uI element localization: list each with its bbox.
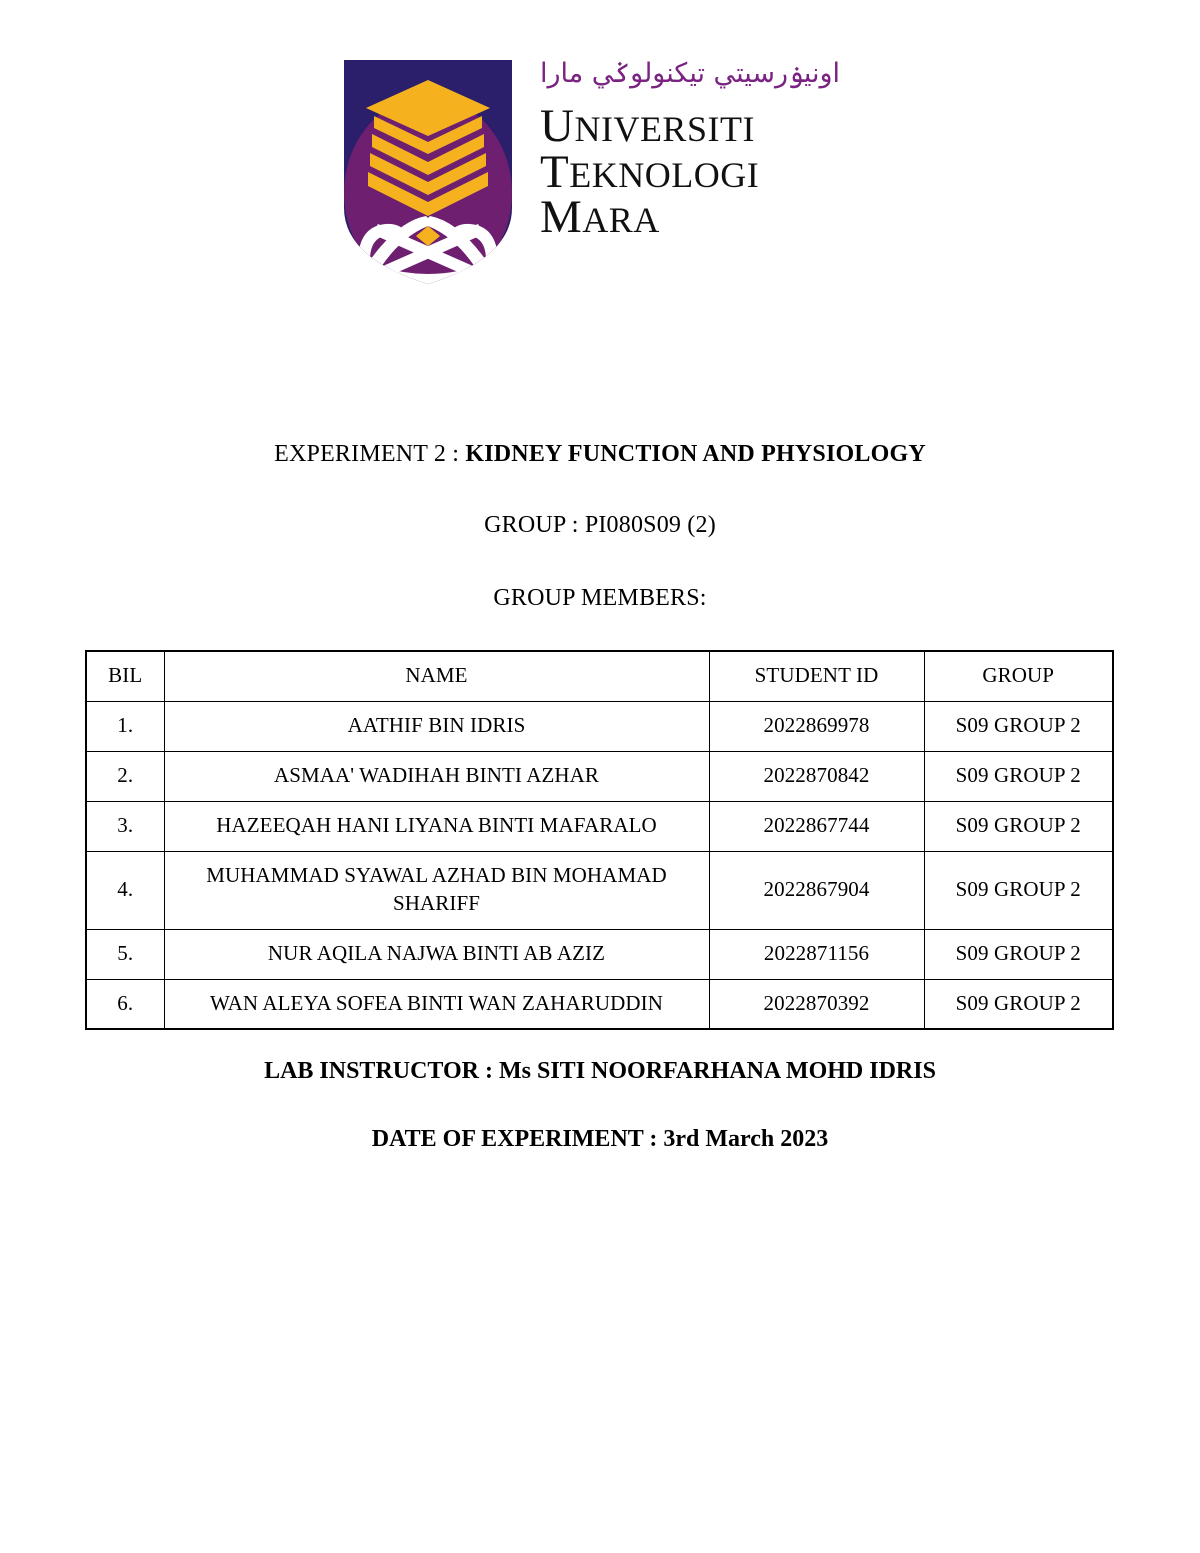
table-row: 2. ASMAA' WADIHAH BINTI AZHAR 2022870842… — [86, 751, 1113, 801]
cell-group: S09 GROUP 2 — [924, 751, 1113, 801]
table-row: 6. WAN ALEYA SOFEA BINTI WAN ZAHARUDDIN … — [86, 979, 1113, 1029]
cell-group: S09 GROUP 2 — [924, 851, 1113, 929]
date-of-experiment-line: DATE OF EXPERIMENT : 3rd March 2023 — [0, 1126, 1200, 1153]
cell-bil: 2. — [86, 751, 164, 801]
cell-bil: 1. — [86, 701, 164, 751]
cell-name: AATHIF BIN IDRIS — [164, 701, 709, 751]
cell-name: HAZEEQAH HANI LIYANA BINTI MAFARALO — [164, 801, 709, 851]
cell-student-id: 2022869978 — [709, 701, 924, 751]
cell-bil: 5. — [86, 929, 164, 979]
uitm-crest-icon — [340, 58, 516, 286]
cell-bil: 6. — [86, 979, 164, 1029]
table-row: 5. NUR AQILA NAJWA BINTI AB AZIZ 2022871… — [86, 929, 1113, 979]
uitm-wordmark: اونيۏرسيتي تيكنولوݢي مارا UNIVERSITI TEK… — [540, 58, 840, 241]
experiment-title-main: KIDNEY FUNCTION AND PHYSIOLOGY — [465, 441, 926, 467]
table-row: 3. HAZEEQAH HANI LIYANA BINTI MAFARALO 2… — [86, 801, 1113, 851]
table-row: 4. MUHAMMAD SYAWAL AZHAD BIN MOHAMAD SHA… — [86, 851, 1113, 929]
cell-student-id: 2022867904 — [709, 851, 924, 929]
group-members-label: GROUP MEMBERS: — [0, 585, 1200, 612]
experiment-title-prefix: EXPERIMENT 2 : — [274, 441, 465, 467]
column-header-name: NAME — [164, 651, 709, 701]
cell-name: ASMAA' WADIHAH BINTI AZHAR — [164, 751, 709, 801]
cell-group: S09 GROUP 2 — [924, 979, 1113, 1029]
cell-name: WAN ALEYA SOFEA BINTI WAN ZAHARUDDIN — [164, 979, 709, 1029]
cell-student-id: 2022870842 — [709, 751, 924, 801]
university-name: UNIVERSITI TEKNOLOGI MARA — [540, 104, 840, 241]
university-name-line-3: MARA — [540, 195, 840, 241]
university-name-line-2: TEKNOLOGI — [540, 150, 840, 196]
uitm-logo: اونيۏرسيتي تيكنولوݢي مارا UNIVERSITI TEK… — [340, 58, 900, 293]
cell-bil: 4. — [86, 851, 164, 929]
table-row: 1. AATHIF BIN IDRIS 2022869978 S09 GROUP… — [86, 701, 1113, 751]
cell-bil: 3. — [86, 801, 164, 851]
cell-group: S09 GROUP 2 — [924, 929, 1113, 979]
experiment-title: EXPERIMENT 2 : KIDNEY FUNCTION AND PHYSI… — [0, 441, 1200, 468]
university-name-line-1: UNIVERSITI — [540, 104, 840, 150]
cell-name: NUR AQILA NAJWA BINTI AB AZIZ — [164, 929, 709, 979]
column-header-group: GROUP — [924, 651, 1113, 701]
cell-name: MUHAMMAD SYAWAL AZHAD BIN MOHAMAD SHARIF… — [164, 851, 709, 929]
cell-student-id: 2022870392 — [709, 979, 924, 1029]
cell-group: S09 GROUP 2 — [924, 801, 1113, 851]
lab-instructor-line: LAB INSTRUCTOR : Ms SITI NOORFARHANA MOH… — [0, 1058, 1200, 1085]
table-header-row: BIL NAME STUDENT ID GROUP — [86, 651, 1113, 701]
column-header-student-id: STUDENT ID — [709, 651, 924, 701]
jawi-script-text: اونيۏرسيتي تيكنولوݢي مارا — [540, 60, 840, 100]
cell-group: S09 GROUP 2 — [924, 701, 1113, 751]
column-header-bil: BIL — [86, 651, 164, 701]
group-members-table: BIL NAME STUDENT ID GROUP 1. AATHIF BIN … — [85, 650, 1114, 1030]
group-code-line: GROUP : PI080S09 (2) — [0, 512, 1200, 539]
cell-student-id: 2022867744 — [709, 801, 924, 851]
cell-student-id: 2022871156 — [709, 929, 924, 979]
